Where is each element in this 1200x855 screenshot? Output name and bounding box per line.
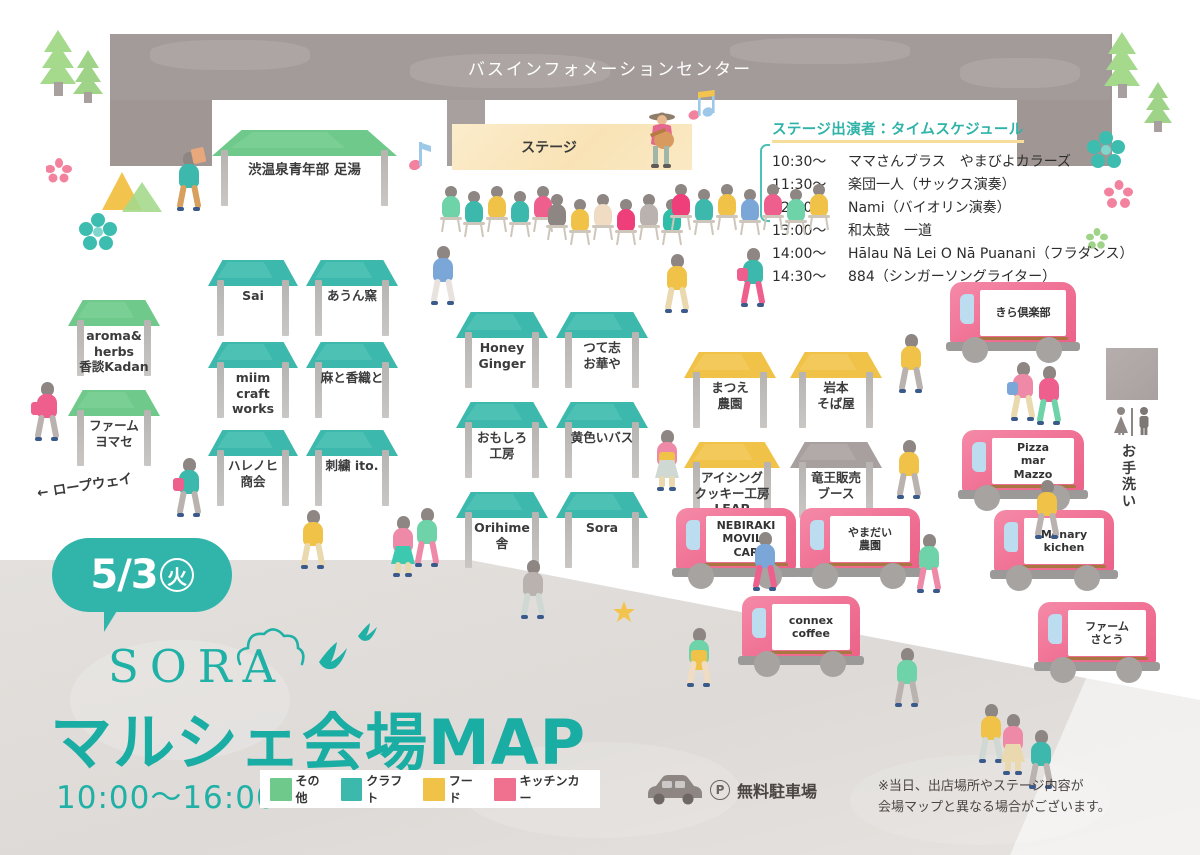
truck-window [810,520,824,550]
star-icon [612,600,636,629]
person-body [764,194,782,217]
booth-label: Sai [208,288,298,304]
legend-item: フード [423,772,484,806]
audience-person [808,184,830,230]
booth-label: Honey Ginger [456,340,548,371]
person-leg [679,286,689,311]
audience-person [693,189,715,235]
mountain-icon [100,170,164,221]
person-leg [49,414,59,439]
audience-person [615,199,637,245]
event-hours: 10:00〜16:00 [56,772,277,817]
chair [661,230,683,233]
flower-icon [46,158,72,189]
person-leg [535,592,545,617]
truck-window [960,294,974,324]
booth-label: 麻と香織と [306,370,398,386]
booth-tent[interactable]: 麻と香織と [306,340,398,422]
chair [615,230,637,233]
person-leg [414,540,424,565]
booth-label: 竜王販売 ブース [790,470,882,501]
truck-wheel [1036,337,1062,363]
visitor-person [752,532,778,594]
person-bag [1007,382,1018,395]
audience-person [569,199,591,245]
person-body [617,209,635,232]
person-leg [664,286,674,311]
truck-wheel [688,563,714,589]
person-leg [767,564,777,589]
person-body [488,196,506,219]
person-leg [176,184,186,209]
truck-window [972,442,986,472]
legend-swatch [494,778,516,801]
booth-label: おもしろ 工房 [456,430,548,461]
visitor-person [916,534,942,596]
visitor-person [896,440,922,502]
date-badge: 5/3 火 [52,538,232,612]
schedule-list: 10:30〜ママさんブラス やまびよカラーズ11:30〜楽団一人（サックス演奏）… [772,151,1172,289]
booth-label: aroma& herbs 香談Kadan [68,328,160,375]
audience-person [762,184,784,230]
booth-label: 渋温泉青年部 足湯 [212,162,397,179]
audience-person [440,186,462,232]
audience-person [486,186,508,232]
visitor-person [176,152,202,214]
person-leg [429,540,439,565]
booth-tent[interactable]: ハレノヒ 商会 [208,428,298,510]
audience-person [592,194,614,240]
booth-label: miim craft works [208,370,298,417]
person-leg [34,414,44,439]
truck-wheel [1006,565,1032,591]
legend-item: その他 [270,772,331,806]
audience-person [546,194,568,240]
audience-person [463,191,485,237]
booth-tent[interactable]: まつえ 農園 [684,350,776,432]
schedule-time: 14:30〜 [772,266,848,289]
booth-label: 黄色いバス [556,430,648,446]
person-leg [898,366,908,391]
person-leg [300,542,310,567]
schedule-act: 和太鼓 一道 [848,220,932,243]
chair [739,220,761,223]
schedule-time: 14:00〜 [772,243,848,266]
venue-map: バスインフォメーションセンター ステージ [0,0,1200,855]
person-leg [520,592,530,617]
kitchen-car[interactable]: ファーム さとう [1038,602,1156,688]
music-note-icon [408,138,434,178]
booth-tent[interactable]: おもしろ 工房 [456,400,548,482]
schedule-act: ママさんブラス やまびよカラーズ [848,151,1071,174]
legend-item: クラフト [341,772,414,806]
person-leg [1036,398,1046,423]
person-leg [931,566,941,591]
person-body [594,204,612,227]
restroom-icons [1108,406,1158,436]
kitchen-car[interactable]: きら倶楽部 [950,282,1076,368]
stage-schedule-panel: ステージ出演者：タイムスケジュール 10:30〜ママさんブラス やまびよカラーズ… [772,118,1172,289]
person-leg [913,366,923,391]
truck-wheel [880,563,906,589]
person-leg [191,490,201,515]
legend-swatch [341,778,363,801]
truck-wheel [1074,565,1100,591]
chair [808,215,830,218]
person-leg [445,278,455,303]
person-body [465,201,483,224]
disclaimer-line-2: 会場マップと異なる場合がございます。 [878,797,1178,818]
person-leg [916,566,926,591]
person-body [511,201,529,224]
schedule-act: Nami（バイオリン演奏） [848,197,1011,220]
person-leg [752,564,762,589]
person-leg [1049,512,1059,537]
person-leg [896,472,906,497]
person-leg [1010,394,1020,419]
visitor-person [430,246,456,308]
visitor-person [654,430,680,492]
truck-label: ファーム さとう [1068,610,1146,656]
legend-item: キッチンカー [494,772,590,806]
person-bag [737,268,748,281]
truck-label: Pizza mar Mazzo [992,438,1074,484]
booth-label: 岩本 そば屋 [790,380,882,411]
person-leg [430,278,440,303]
audience-person [716,184,738,230]
person-leg [701,660,711,685]
truck-window [686,520,700,550]
truck-wheel [812,563,838,589]
person-leg [191,184,201,209]
visitor-person [686,628,712,690]
visitor-person [664,254,690,316]
visitor-person [1000,714,1026,776]
disclaimer-line-1: ※当日、出店場所やステージ内容が [878,776,1178,797]
person-body [442,196,460,219]
person-body [810,194,828,217]
person-bag [31,402,42,415]
truck-wheel [754,651,780,677]
truck-window [1048,614,1062,644]
booth-tent[interactable]: Sai [208,258,298,340]
truck-label: connex coffee [772,604,850,650]
visitor-person [414,508,440,570]
day-of-week: 火 [160,558,194,592]
bird-icon [356,620,384,647]
person-leg [1025,394,1035,419]
visitor-person [898,334,924,396]
person-body [695,199,713,222]
chair [486,217,508,220]
person-leg [909,680,919,705]
legend-label: その他 [296,772,331,806]
sora-wordmark: SORA [108,640,286,693]
booth-tent[interactable]: 刺繍 ito. [306,428,398,510]
infocenter-label: バスインフォメーションセンター [110,34,1110,100]
booth-tent[interactable]: aroma& herbs 香談Kadan [68,298,160,380]
booth-label: 刺繍 ito. [306,458,398,474]
person-body [640,204,658,227]
booth-label: Orihime 舎 [456,520,548,551]
truck-label: きら倶楽部 [980,290,1066,336]
audience-person [509,191,531,237]
kitchen-car[interactable]: Pizza mar Mazzo [962,430,1084,516]
booth-tent[interactable]: miim craft works [208,340,298,422]
person-leg [1034,512,1044,537]
truck-window [1004,522,1018,552]
booth-tent[interactable]: 渋温泉青年部 足湯 [212,128,397,210]
chair [509,222,531,225]
booth-tent[interactable]: ファーム ヨマセ [68,388,160,470]
chair [569,230,591,233]
chair [670,215,692,218]
person-body [548,204,566,227]
chair [762,215,784,218]
booth-tent[interactable]: 黄色いバス [556,400,648,482]
visitor-person [390,516,416,578]
booth-tent[interactable]: 岩本 そば屋 [790,350,882,432]
visitor-person [300,510,326,572]
restroom-label: お手洗い [1116,444,1142,510]
restroom-building [1106,348,1158,400]
kitchen-car[interactable]: connex coffee [742,596,860,682]
visitor-person [1010,362,1036,424]
visitor-person [894,648,920,710]
page-title: マルシェ会場MAP [50,692,586,782]
audience-person [785,189,807,235]
tree-icon [72,46,118,104]
guitarist-icon [640,106,686,177]
schedule-row: 11:30〜楽団一人（サックス演奏） [772,174,1172,197]
truck-wheel [820,651,846,677]
schedule-row: 14:00〜Hālau Nā Lei O Nā Puanani（フラダンス） [772,243,1172,266]
chair [463,222,485,225]
person-leg [740,280,750,305]
parking-info: P 無料駐車場 [710,778,817,802]
restroom-divider [1131,408,1133,436]
schedule-title: ステージ出演者：タイムスケジュール [772,118,1024,143]
kitchen-car[interactable]: やまだい 農園 [800,508,920,594]
schedule-time: 10:30〜 [772,151,848,174]
chair [440,217,462,220]
legend-swatch [423,778,445,801]
schedule-act: 楽団一人（サックス演奏） [848,174,1016,197]
chair [546,225,568,228]
music-note-icon [688,88,718,128]
truck-wheel [962,337,988,363]
schedule-row: 13:00〜和太鼓 一道 [772,220,1172,243]
chair [716,215,738,218]
booth-tent[interactable]: Sora [556,490,648,572]
legend-label: フード [449,772,484,806]
booth-label: あうん窯 [306,288,398,304]
person-leg [686,660,696,685]
date-text: 5/3 [90,552,157,598]
booth-label: まつえ 農園 [684,380,776,411]
disclaimer: ※当日、出店場所やステージ内容が 会場マップと異なる場合がございます。 [878,776,1178,818]
truck-wheel [1050,657,1076,683]
audience-person [638,194,660,240]
booth-tent[interactable]: あうん窯 [306,258,398,340]
chair [693,220,715,223]
person-leg [1051,398,1061,423]
booth-tent[interactable]: つて志 お華や [556,310,648,392]
legend-label: キッチンカー [520,772,590,806]
person-body [787,199,805,222]
kitchen-car[interactable]: NEBIRAKI MOVILE CAR [676,508,796,594]
booth-label: Sora [556,520,648,536]
audience-person [739,189,761,235]
visitor-person [740,248,766,310]
person-leg [911,472,921,497]
visitor-person [520,560,546,622]
chair [592,225,614,228]
booth-label: ファーム ヨマセ [68,418,160,449]
bird-icon [316,636,360,675]
legend: その他クラフトフードキッチンカー [260,770,600,808]
visitor-person [1034,480,1060,542]
person-leg [315,542,325,567]
booth-label: ハレノヒ 商会 [208,458,298,489]
person-body [741,199,759,222]
visitor-person [1036,366,1062,428]
person-body [571,209,589,232]
truck-wheel [974,485,1000,511]
person-leg [755,280,765,305]
truck-wheel [1116,657,1142,683]
person-leg [894,680,904,705]
schedule-act: Hālau Nā Lei O Nā Puanani（フラダンス） [848,243,1133,266]
legend-swatch [270,778,292,801]
chair [638,225,660,228]
schedule-row: 10:30〜ママさんブラス やまびよカラーズ [772,151,1172,174]
schedule-row: 12:00〜Nami（バイオリン演奏） [772,197,1172,220]
truck-label: やまだい 農園 [830,516,910,562]
booth-label: つて志 お華や [556,340,648,371]
parking-symbol: P [710,780,730,800]
booth-tent[interactable]: Honey Ginger [456,310,548,392]
person-body [672,194,690,217]
chair [785,220,807,223]
legend-label: クラフト [366,772,413,806]
car-icon [644,772,704,811]
flyer-icon [191,147,207,164]
truck-window [752,608,766,638]
person-body [718,194,736,217]
person-leg [176,490,186,515]
person-leg [978,736,988,761]
audience-person [670,184,692,230]
visitor-person [34,382,60,444]
parking-label: 無料駐車場 [737,778,817,802]
